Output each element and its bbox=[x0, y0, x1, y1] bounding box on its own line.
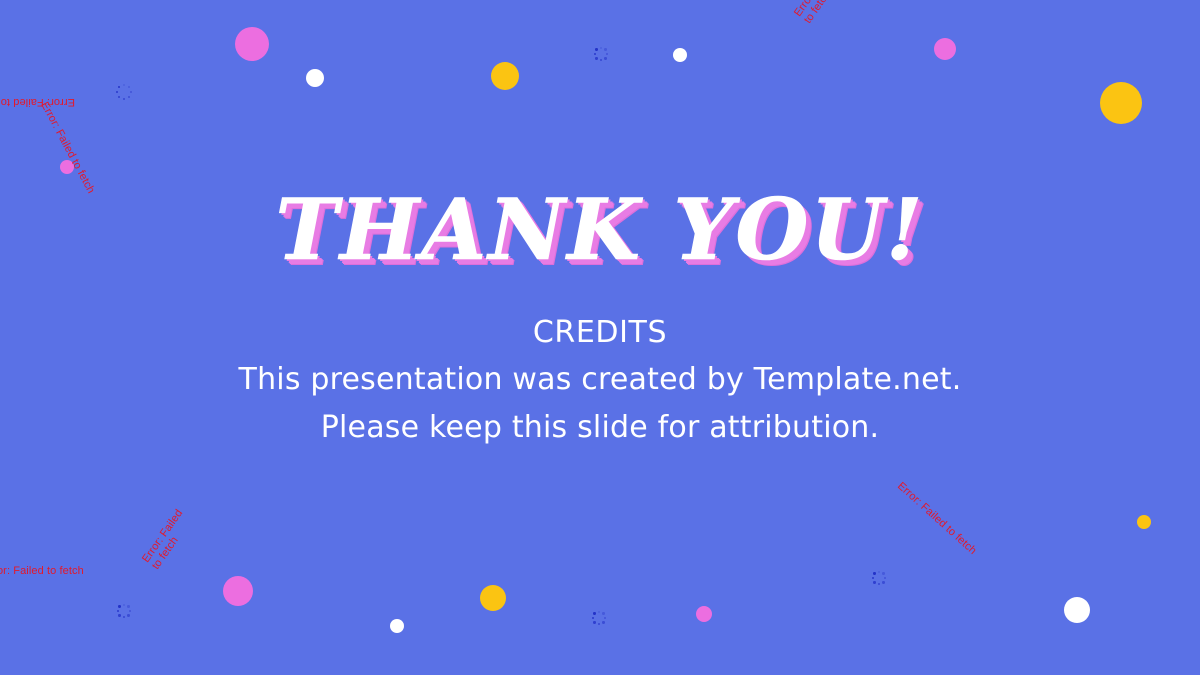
spinner-dot bbox=[598, 623, 600, 625]
loading-spinner-top-left bbox=[116, 84, 132, 100]
spinner-dot bbox=[130, 91, 132, 93]
spinner-dot bbox=[128, 86, 130, 88]
loading-spinner-bottom-right bbox=[872, 571, 887, 586]
spinner-dot bbox=[123, 84, 125, 86]
spinner-dot bbox=[123, 604, 125, 606]
yellow-circle-bottom-center bbox=[480, 585, 506, 611]
spinner-dot bbox=[606, 53, 608, 55]
spinner-dot bbox=[117, 610, 119, 612]
error-message-4: Error: Failed to fetch bbox=[0, 565, 84, 577]
pink-circle-top-right bbox=[934, 38, 956, 60]
spinner-dot bbox=[882, 581, 884, 583]
error-message-6: Error: Failed to fetch bbox=[895, 480, 979, 557]
presentation-slide: Error: Failed to fetchError: Failed to f… bbox=[0, 0, 1200, 675]
pink-dot-bottom-center bbox=[696, 606, 712, 622]
spinner-dot bbox=[593, 612, 595, 614]
thank-you-title: THANK YOU! bbox=[275, 188, 924, 272]
spinner-dot bbox=[593, 621, 595, 623]
spinner-dot bbox=[604, 48, 606, 50]
error-message-5: Error: Failed to fetch bbox=[140, 507, 196, 572]
spinner-dot bbox=[127, 605, 129, 607]
spinner-dot bbox=[878, 583, 880, 585]
spinner-dot bbox=[594, 53, 596, 55]
white-dot-top-center bbox=[673, 48, 687, 62]
loading-spinner-bottom-left bbox=[117, 604, 132, 619]
credits-block: CREDITS This presentation was created by… bbox=[0, 310, 1200, 452]
spinner-dot bbox=[600, 59, 602, 61]
spinner-dot bbox=[604, 57, 606, 59]
yellow-circle-large-top-right bbox=[1100, 82, 1142, 124]
spinner-dot bbox=[127, 614, 129, 616]
loading-spinner-top-center bbox=[594, 47, 609, 62]
yellow-circle-top-center bbox=[491, 62, 519, 90]
pink-circle-bottom-left bbox=[223, 576, 253, 606]
white-dot-bottom-left bbox=[390, 619, 404, 633]
spinner-dot bbox=[878, 571, 880, 573]
spinner-dot bbox=[129, 610, 131, 612]
spinner-dot bbox=[604, 617, 606, 619]
credits-heading: CREDITS bbox=[0, 310, 1200, 356]
spinner-dot bbox=[592, 617, 594, 619]
spinner-dot bbox=[884, 577, 886, 579]
spinner-dot bbox=[116, 91, 118, 93]
spinner-dot bbox=[123, 98, 125, 100]
spinner-dot bbox=[123, 616, 125, 618]
page-title: THANK YOU! bbox=[0, 188, 1200, 272]
yellow-dot-right bbox=[1137, 515, 1151, 529]
spinner-dot bbox=[872, 577, 874, 579]
spinner-dot bbox=[595, 48, 597, 50]
spinner-dot bbox=[600, 47, 602, 49]
spinner-dot bbox=[882, 572, 884, 574]
credits-line-1: This presentation was created by Templat… bbox=[0, 356, 1200, 404]
spinner-dot bbox=[595, 57, 597, 59]
spinner-dot bbox=[602, 612, 604, 614]
spinner-dot bbox=[118, 96, 120, 98]
error-message-1: Error: Failed to fetch bbox=[792, 0, 848, 26]
spinner-dot bbox=[118, 605, 120, 607]
white-circle-bottom-right bbox=[1064, 597, 1090, 623]
credits-line-2: Please keep this slide for attribution. bbox=[0, 404, 1200, 452]
spinner-dot bbox=[118, 614, 120, 616]
spinner-dot bbox=[873, 572, 875, 574]
spinner-dot bbox=[602, 621, 604, 623]
error-message-3: Error: Failed to fetch bbox=[38, 100, 97, 196]
loading-spinner-bottom-center bbox=[592, 611, 607, 626]
spinner-dot bbox=[598, 611, 600, 613]
spinner-dot bbox=[118, 86, 120, 88]
pink-circle-large-top-left bbox=[235, 27, 269, 61]
spinner-dot bbox=[873, 581, 875, 583]
spinner-dot bbox=[128, 96, 130, 98]
white-circle-top-left bbox=[306, 69, 324, 87]
